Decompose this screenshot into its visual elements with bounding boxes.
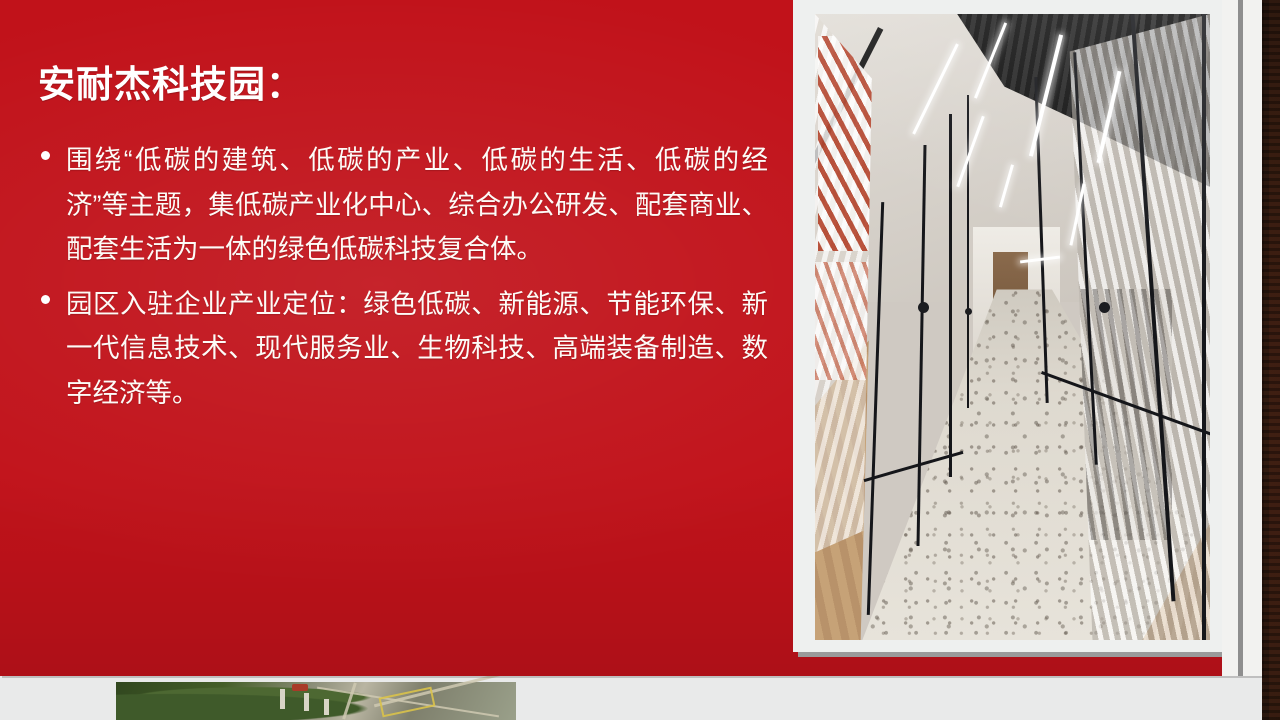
slide-text-column: 安耐杰科技园： 围绕“低碳的建筑、低碳的产业、低碳的生活、低碳的经济”等主题，集… <box>38 62 768 425</box>
bullet-item-2: 园区入驻企业产业定位：绿色低碳、新能源、节能环保、新一代信息技术、现代服务业、生… <box>38 282 768 416</box>
aerial-road <box>342 682 357 719</box>
photo-frame[interactable] <box>793 0 1222 652</box>
slide-title: 安耐杰科技园： <box>38 62 768 108</box>
viewport-scroll-divider[interactable] <box>1238 0 1243 676</box>
slide-canvas[interactable]: 安耐杰科技园： 围绕“低碳的建筑、低碳的产业、低碳的生活、低碳的经济”等主题，集… <box>0 0 1262 676</box>
bullet-text-1: 围绕“低碳的建筑、低碳的产业、低碳的生活、低碳的经济”等主题，集低碳产业化中心、… <box>66 145 768 264</box>
corridor-photo-content <box>815 14 1210 640</box>
corridor-photo <box>815 14 1210 640</box>
slide-bullet-list: 围绕“低碳的建筑、低碳的产业、低碳的生活、低碳的经济”等主题，集低碳产业化中心、… <box>38 138 768 415</box>
bullet-item-1: 围绕“低碳的建筑、低碳的产业、低碳的生活、低碳的经济”等主题，集低碳产业化中心、… <box>38 138 768 272</box>
aerial-red-roof <box>292 684 308 691</box>
aerial-structure <box>280 689 285 709</box>
bullet-text-2: 园区入驻企业产业定位：绿色低碳、新能源、节能环保、新一代信息技术、现代服务业、生… <box>66 289 768 408</box>
bullet-dot-icon <box>41 151 50 160</box>
aerial-structure <box>324 699 329 715</box>
next-slide-aerial-photo <box>116 682 516 720</box>
bullet-dot-icon <box>41 295 50 304</box>
photo-highlight-overlay <box>815 14 1210 640</box>
aerial-marking <box>379 686 436 717</box>
aerial-structure <box>304 693 309 711</box>
next-slide-preview[interactable] <box>0 674 1262 720</box>
slide-viewport: 安耐杰科技园： 围绕“低碳的建筑、低碳的产业、低碳的生活、低碳的经济”等主题，集… <box>0 0 1280 720</box>
